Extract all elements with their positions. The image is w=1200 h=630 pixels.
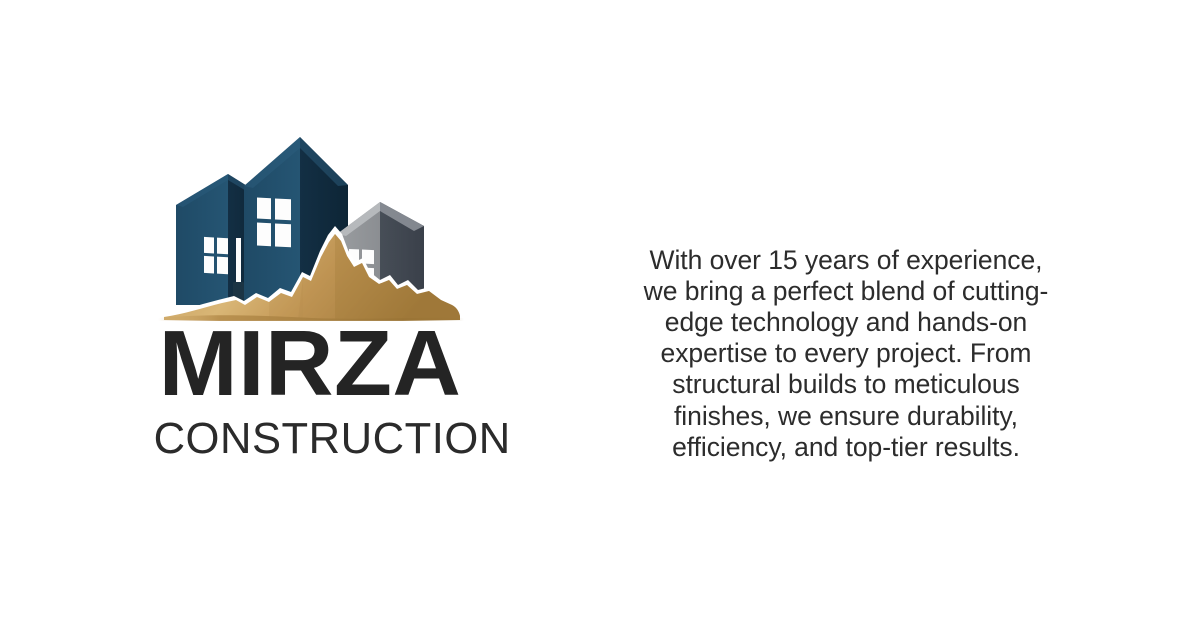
- copy-panel: With over 15 years of experience, we bri…: [600, 0, 1200, 630]
- construction-logo-icon: [152, 130, 468, 325]
- page-canvas: MIRZA CONSTRUCTION With over 15 years of…: [0, 0, 1200, 630]
- brand-panel: MIRZA CONSTRUCTION: [0, 0, 600, 630]
- wordmark-mirza: MIRZA: [149, 323, 471, 405]
- brand-lockup: MIRZA CONSTRUCTION: [152, 130, 468, 461]
- tagline-paragraph: With over 15 years of experience, we bri…: [629, 245, 1063, 463]
- wordmark-construction: CONSTRUCTION: [154, 417, 467, 461]
